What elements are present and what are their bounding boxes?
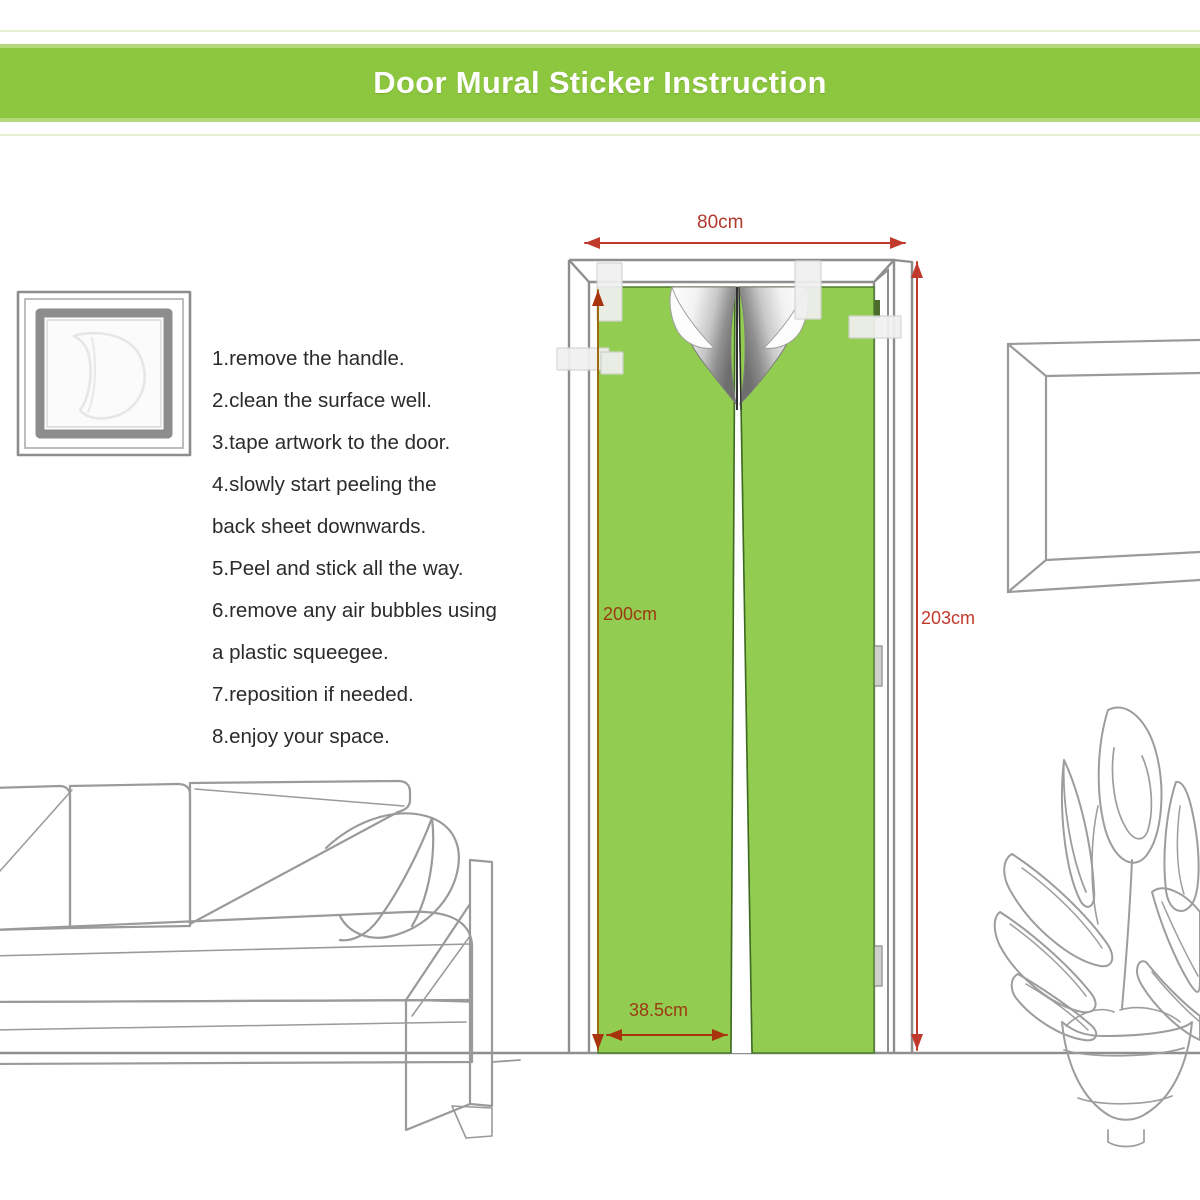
dimension-label-width: 80cm <box>697 212 743 234</box>
tape-left-small <box>601 352 623 374</box>
dimension-label-door-height: 203cm <box>921 608 975 629</box>
green-sticker-right-panel <box>739 287 874 1053</box>
tape-top-left <box>597 263 622 321</box>
dimension-label-sticker-height: 200cm <box>603 604 657 625</box>
tape-right-edge <box>849 316 901 338</box>
arrow-80cm <box>585 237 905 249</box>
door-diagram <box>0 0 1200 1200</box>
green-sticker-left-panel <box>598 287 735 1053</box>
poster-root: Door Mural Sticker Instruction 1.remove … <box>0 0 1200 1200</box>
dimension-label-panel-width: 38.5cm <box>629 1000 688 1021</box>
tape-top-right <box>795 261 821 319</box>
